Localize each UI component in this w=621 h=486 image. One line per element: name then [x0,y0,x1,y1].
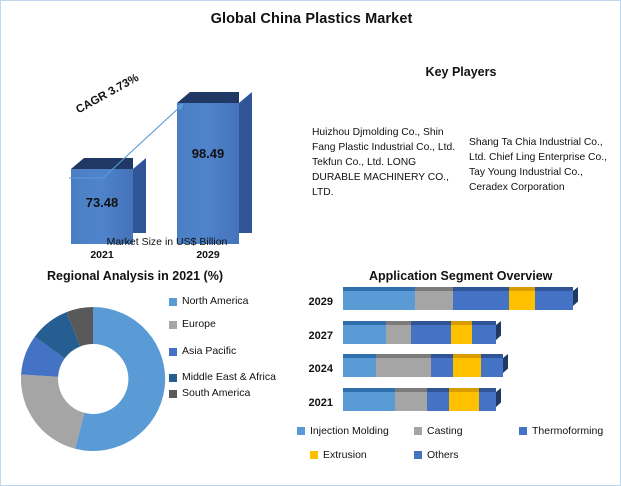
legend-swatch-north-america [169,298,177,306]
column-bar-2029-value: 98.49 [177,146,239,161]
donut-slice-europe[interactable] [21,375,84,449]
infographic-page: Global China Plastics Market 73.48 98.49… [0,0,621,486]
segment-injection-molding-2024[interactable] [343,358,376,377]
segment-top-2024-c [431,354,453,358]
regional-legend: North America Europe Asia Pacific Middle… [169,295,289,410]
legend-item-north-america[interactable]: North America [169,295,289,308]
legend-item-extrusion[interactable]: Extrusion [310,449,367,461]
application-segment-heading: Application Segment Overview [369,269,552,283]
column-bar-2029-side-face [239,92,252,233]
stacked-bar-label-2027: 2027 [291,325,333,347]
segment-top-2027-e [472,321,496,325]
legend-label-thermoforming: Thermoforming [532,425,603,437]
stacked-bar-end-cap-2027 [496,321,501,340]
column-bar-2021-value: 73.48 [71,195,133,210]
segment-top-2029-c [453,287,509,291]
stacked-bar-label-2021: 2021 [291,392,333,414]
segment-casting-2029[interactable] [415,291,453,310]
segment-top-2027-a [343,321,386,325]
segment-casting-2027[interactable] [386,325,411,344]
legend-label-extrusion: Extrusion [323,449,367,461]
segment-thermoforming-2024[interactable] [431,358,453,377]
legend-swatch-extrusion [310,451,318,459]
market-size-column-chart: 73.48 98.49 CAGR 3.73% 2021 2029 [47,81,287,256]
column-bar-2029-front-face [177,103,239,244]
segment-extrusion-2024[interactable] [453,358,481,377]
legend-item-asia-pacific[interactable]: Asia Pacific [169,345,289,358]
legend-label-north-america: North America [182,295,249,308]
segment-extrusion-2027[interactable] [451,325,472,344]
legend-label-middle-east-africa: Middle East & Africa [182,371,276,384]
legend-item-europe[interactable]: Europe [169,318,289,331]
column-bar-2029-top-face [177,92,239,103]
segment-top-2024-e [481,354,503,358]
stacked-bar-track-2029 [343,291,573,310]
segment-injection-molding-2021[interactable] [343,392,395,411]
segment-top-2029-b [415,287,453,291]
regional-analysis-heading: Regional Analysis in 2021 (%) [47,269,223,283]
segment-extrusion-2029[interactable] [509,291,535,310]
segment-injection-molding-2027[interactable] [343,325,386,344]
segment-top-2024-a [343,354,376,358]
legend-swatch-south-america [169,390,177,398]
column-chart-caption: Market Size in US$ Billion [47,236,287,248]
segment-others-2024[interactable] [481,358,503,377]
segment-others-2021[interactable] [479,392,496,411]
segment-thermoforming-2027[interactable] [411,325,451,344]
legend-swatch-casting [414,427,422,435]
legend-swatch-europe [169,321,177,329]
segment-top-2029-a [343,287,415,291]
legend-label-casting: Casting [427,425,463,437]
segment-casting-2021[interactable] [395,392,427,411]
segment-top-2029-d [509,287,535,291]
stacked-bar-end-cap-2021 [496,388,501,407]
legend-label-europe: Europe [182,318,216,331]
segment-top-2021-d [449,388,479,392]
stacked-bar-end-cap-2029 [573,287,578,306]
segment-top-2021-b [395,388,427,392]
legend-item-middle-east-africa[interactable]: Middle East & Africa [169,371,289,384]
segment-top-2027-c [411,321,451,325]
legend-label-south-america: South America [182,387,250,400]
key-players-column-right: Shang Ta Chia Industrial Co., Ltd. Chief… [469,135,619,195]
legend-swatch-asia-pacific [169,348,177,356]
legend-label-asia-pacific: Asia Pacific [182,345,236,358]
segment-casting-2024[interactable] [376,358,431,377]
segment-others-2029[interactable] [535,291,573,310]
segment-top-2024-d [453,354,481,358]
segment-top-2027-d [451,321,472,325]
application-legend: Injection Molding Casting Thermoforming … [297,425,621,468]
column-category-2021: 2021 [71,249,133,261]
key-players-heading: Key Players [331,65,591,79]
segment-top-2024-b [376,354,431,358]
segment-top-2029-e [535,287,573,291]
application-legend-row-1: Injection Molding Casting Thermoforming [297,425,621,444]
column-bar-2021: 73.48 [71,169,133,244]
application-stacked-bar-chart: 2029 2027 [291,289,621,419]
legend-label-others: Others [427,449,459,461]
stacked-bar-label-2029: 2029 [291,291,333,313]
legend-swatch-middle-east-africa [169,374,177,382]
cagr-label: CAGR 3.73% [74,72,141,116]
segment-top-2021-a [343,388,395,392]
legend-swatch-others [414,451,422,459]
legend-item-thermoforming[interactable]: Thermoforming [519,425,603,437]
segment-top-2027-b [386,321,411,325]
segment-extrusion-2021[interactable] [449,392,479,411]
column-category-2029: 2029 [177,249,239,261]
stacked-bar-track-2027 [343,325,496,344]
segment-top-2021-c [427,388,449,392]
application-legend-row-2: Extrusion Others [297,449,621,468]
page-title: Global China Plastics Market [1,11,621,27]
stacked-bar-track-2024 [343,358,503,377]
legend-label-injection-molding: Injection Molding [310,425,389,437]
key-players-column-left: Huizhou Djmolding Co., Shin Fang Plastic… [312,125,462,200]
column-bar-2021-side-face [133,158,146,233]
column-bar-2021-top-face [71,158,133,169]
segment-others-2027[interactable] [472,325,496,344]
legend-item-south-america[interactable]: South America [169,387,289,400]
column-bar-2029: 98.49 [177,103,239,244]
segment-thermoforming-2029[interactable] [453,291,509,310]
legend-item-others[interactable]: Others [414,449,459,461]
regional-donut-chart [19,287,171,473]
legend-item-casting[interactable]: Casting [414,425,463,437]
legend-swatch-injection-molding [297,427,305,435]
stacked-bar-end-cap-2024 [503,354,508,373]
legend-swatch-thermoforming [519,427,527,435]
segment-top-2021-e [479,388,496,392]
stacked-bar-track-2021 [343,392,496,411]
stacked-bar-label-2024: 2024 [291,358,333,380]
legend-item-injection-molding[interactable]: Injection Molding [297,425,389,437]
segment-injection-molding-2029[interactable] [343,291,415,310]
segment-thermoforming-2021[interactable] [427,392,449,411]
